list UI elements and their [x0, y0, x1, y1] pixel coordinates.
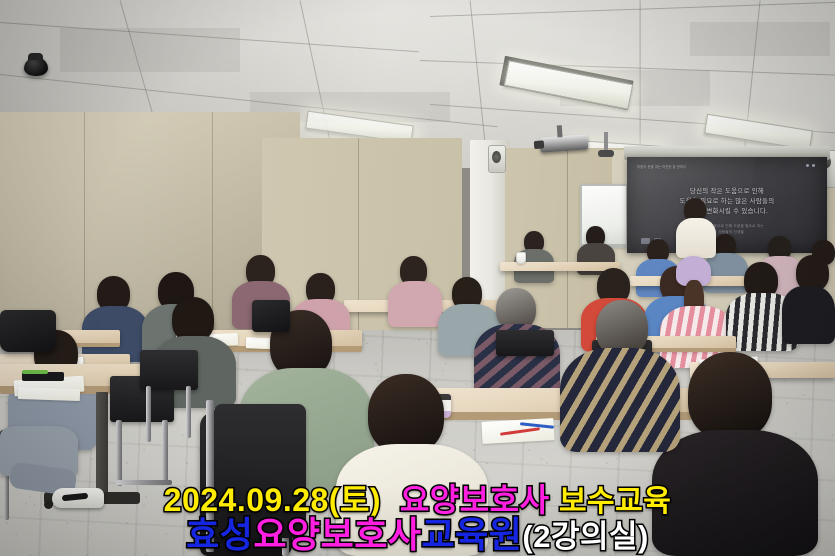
- instructor-body: [676, 218, 716, 258]
- chair-frame-foreground: [206, 400, 214, 552]
- security-camera-icon: [24, 57, 48, 76]
- tote-bag: [252, 300, 290, 332]
- marker-pen: [22, 370, 48, 374]
- slide-line-1: 당신의 작은 도움으로 인해: [635, 187, 819, 197]
- attendee-body: [560, 348, 680, 452]
- projector-mount: [604, 132, 608, 152]
- chair-frame: [146, 386, 151, 442]
- slide-dots-icon: [806, 164, 815, 167]
- wall-speaker-icon: [488, 145, 506, 173]
- handout-paper: [18, 387, 80, 401]
- handbag: [0, 310, 56, 352]
- paper-cup: [516, 252, 526, 264]
- attendee-body: [782, 286, 835, 344]
- slide-line-3: 인생을 변화시킬 수 있습니다.: [635, 207, 819, 217]
- slide-line-2: 도움을 필요로 하는 많은 사람들의: [635, 197, 819, 207]
- photo-canvas: 마음의 문을 여는 따뜻한 말 한마디 당신의 작은 도움으로 인해 도움을 필…: [0, 0, 835, 556]
- attendee-head-foreground: [368, 374, 444, 454]
- attendee-body-foreground: [652, 430, 818, 556]
- desk-leg: [96, 392, 108, 498]
- chair: [496, 330, 554, 356]
- attendee-body-foreground: [336, 444, 488, 556]
- chair: [140, 350, 198, 390]
- chair-frame: [116, 420, 122, 486]
- chair-frame: [186, 386, 191, 438]
- chair-frame: [116, 480, 172, 485]
- attendee-body: [388, 281, 442, 327]
- ceiling-light-1: [504, 60, 634, 110]
- light-fixture-frame-1: [499, 56, 633, 110]
- attendee-head-foreground: [688, 352, 772, 440]
- slide-header-text: 마음의 문을 여는 따뜻한 말 한마디: [637, 164, 817, 169]
- chair-foreground: [214, 404, 306, 538]
- ceiling-light-2: [704, 114, 813, 150]
- chair-frame: [162, 420, 168, 482]
- slide-body-text: 당신의 작은 도움으로 인해 도움을 필요로 하는 많은 사람들의 인생을 변화…: [635, 187, 819, 217]
